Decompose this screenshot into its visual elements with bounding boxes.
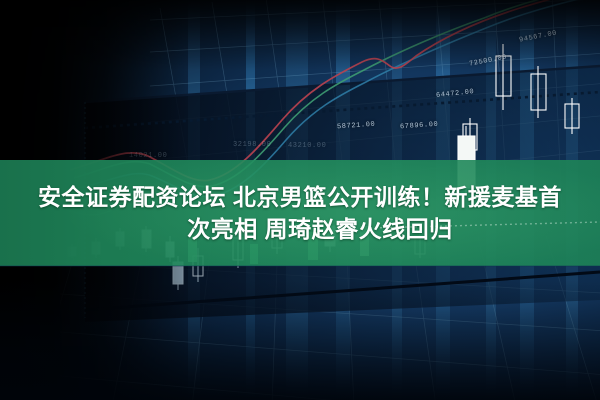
stock-chart-banner-image: 94567.00 72500.00 64472.00 58721.00 6789… <box>0 0 600 400</box>
band-dotted-line <box>0 0 600 400</box>
